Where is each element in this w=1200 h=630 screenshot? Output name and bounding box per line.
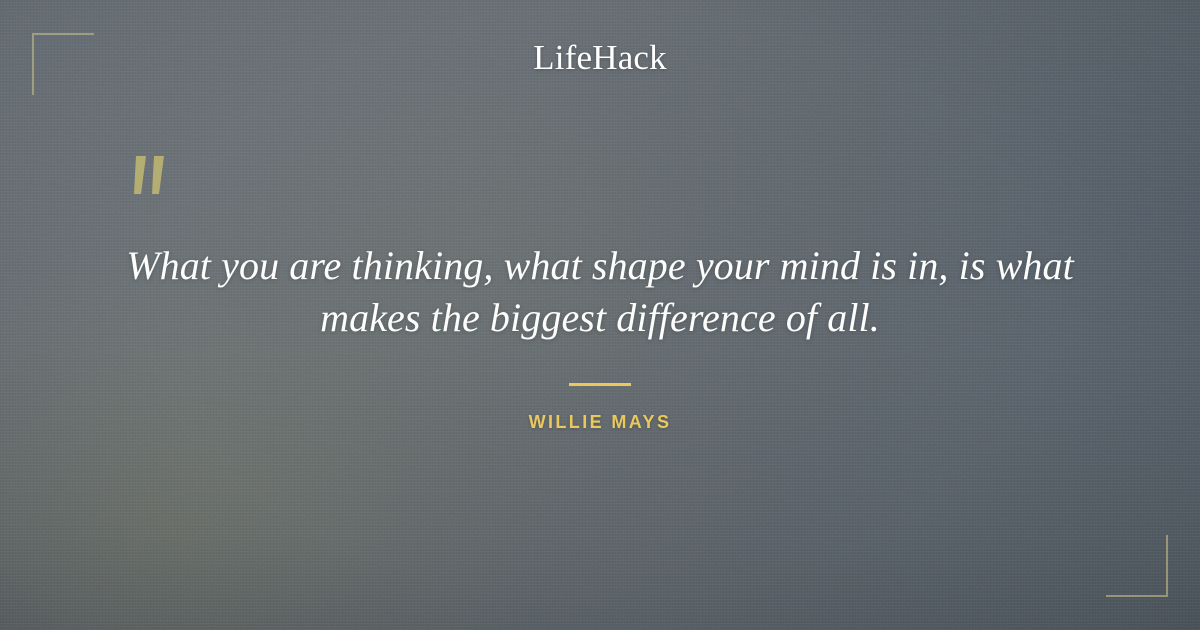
author-name: WILLIE MAYS bbox=[529, 412, 672, 433]
quote-line-1: What you are thinking, what shape your m… bbox=[126, 243, 1074, 288]
quote-text: What you are thinking, what shape your m… bbox=[95, 240, 1105, 343]
author-divider bbox=[569, 383, 631, 386]
brand-logo: LifeHack bbox=[0, 40, 1200, 75]
attribution: WILLIE MAYS bbox=[0, 412, 1200, 433]
quote-card: LifeHack What you are thinking, what sha… bbox=[0, 0, 1200, 630]
quotation-mark-icon bbox=[126, 152, 186, 222]
corner-bracket-bottom-right-icon bbox=[1106, 535, 1168, 597]
quote-line-2: makes the biggest difference of all. bbox=[320, 295, 880, 340]
brand-logo-text: LifeHack bbox=[533, 40, 667, 75]
quote-block: What you are thinking, what shape your m… bbox=[95, 240, 1105, 343]
